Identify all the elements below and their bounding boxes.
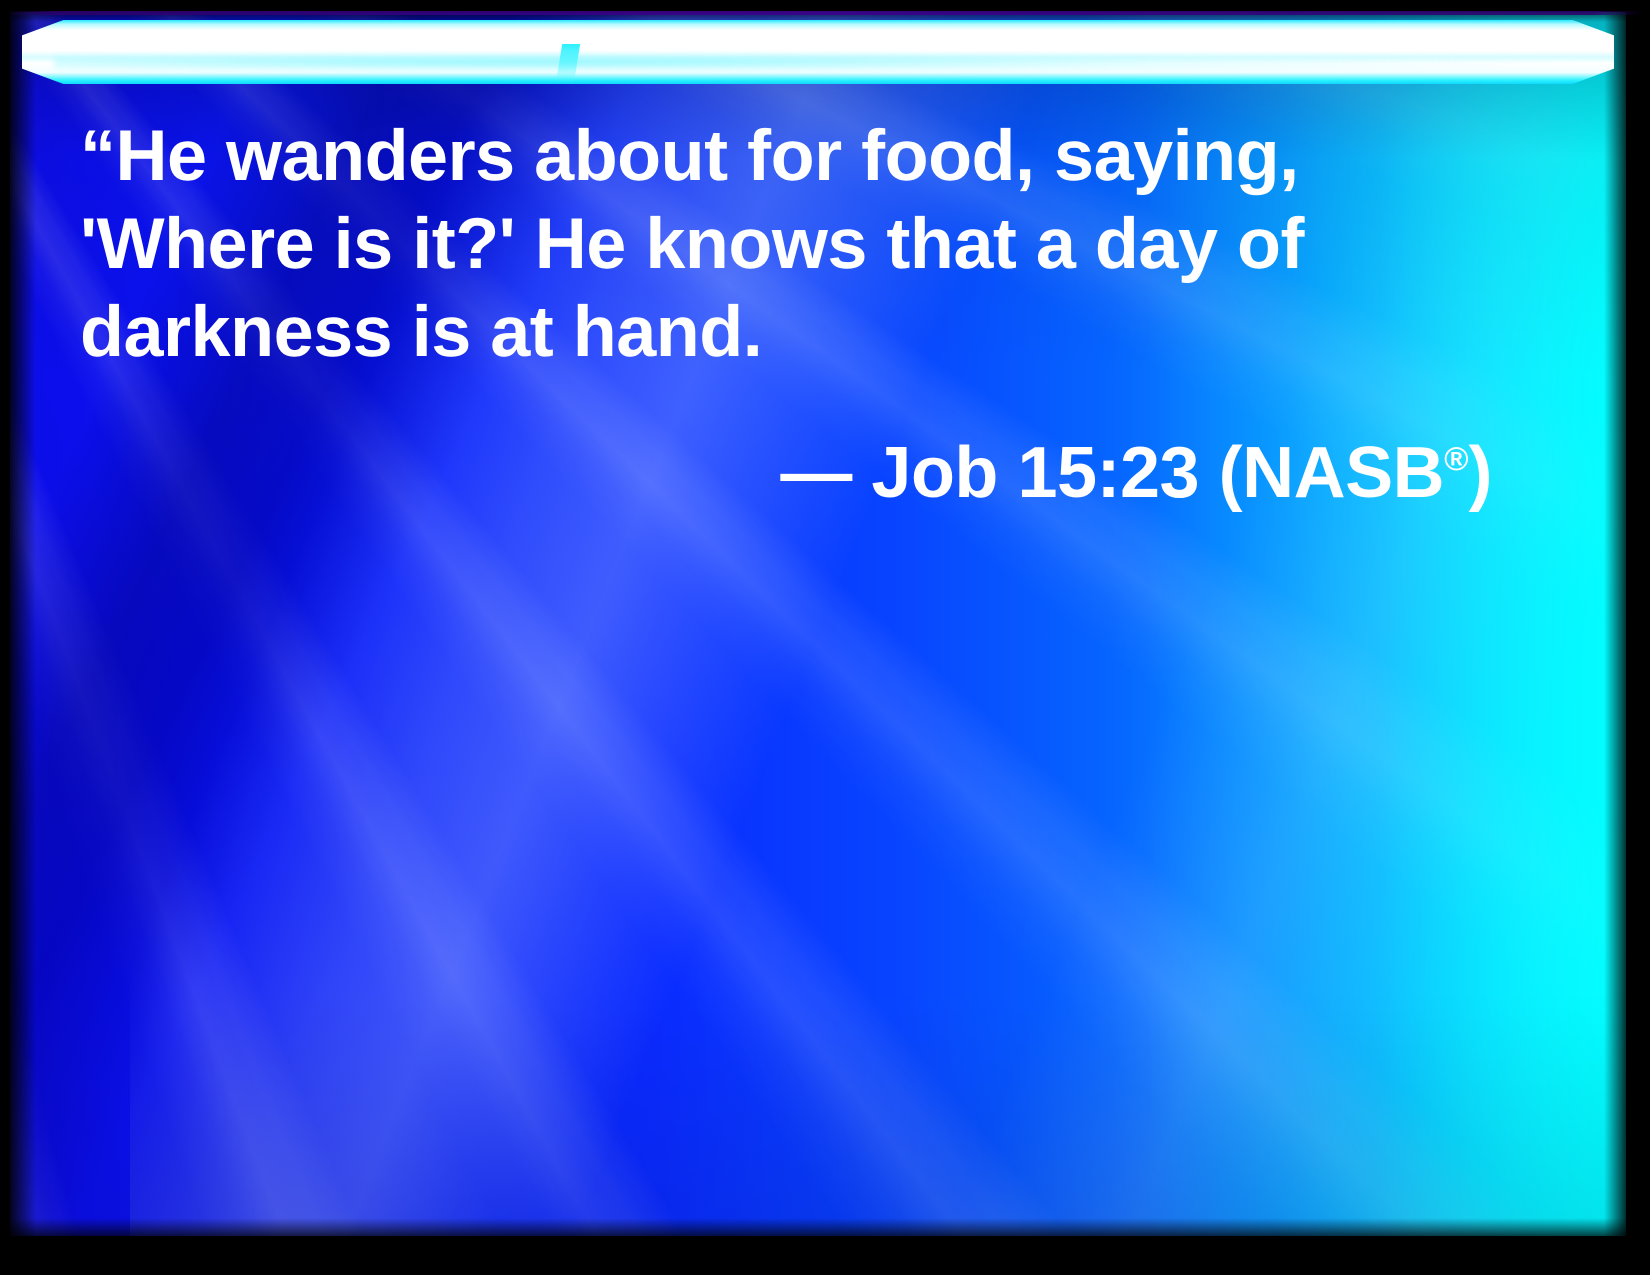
citation-open-paren: (: [1219, 433, 1242, 513]
registered-trademark-icon: ®: [1444, 441, 1468, 478]
scripture-citation: — Job 15:23 (NASB®): [80, 418, 1540, 515]
citation-dash: —: [780, 433, 852, 513]
citation-reference: 15:23: [1017, 433, 1199, 513]
verse-line-1: “He wanders about for food, saying,: [80, 112, 1540, 200]
verse-text-block: “He wanders about for food, saying, 'Whe…: [80, 112, 1540, 515]
citation-close-paren: ): [1469, 433, 1492, 513]
verse-line-2: 'Where is it?' He knows that a day of: [80, 200, 1540, 288]
verse-line-3: darkness is at hand.: [80, 288, 1540, 376]
scripture-slide: “He wanders about for food, saying, 'Whe…: [0, 0, 1650, 1275]
citation-version: NASB: [1242, 433, 1444, 513]
banner-hairline: [8, 11, 1642, 15]
citation-book: Job: [871, 433, 998, 513]
